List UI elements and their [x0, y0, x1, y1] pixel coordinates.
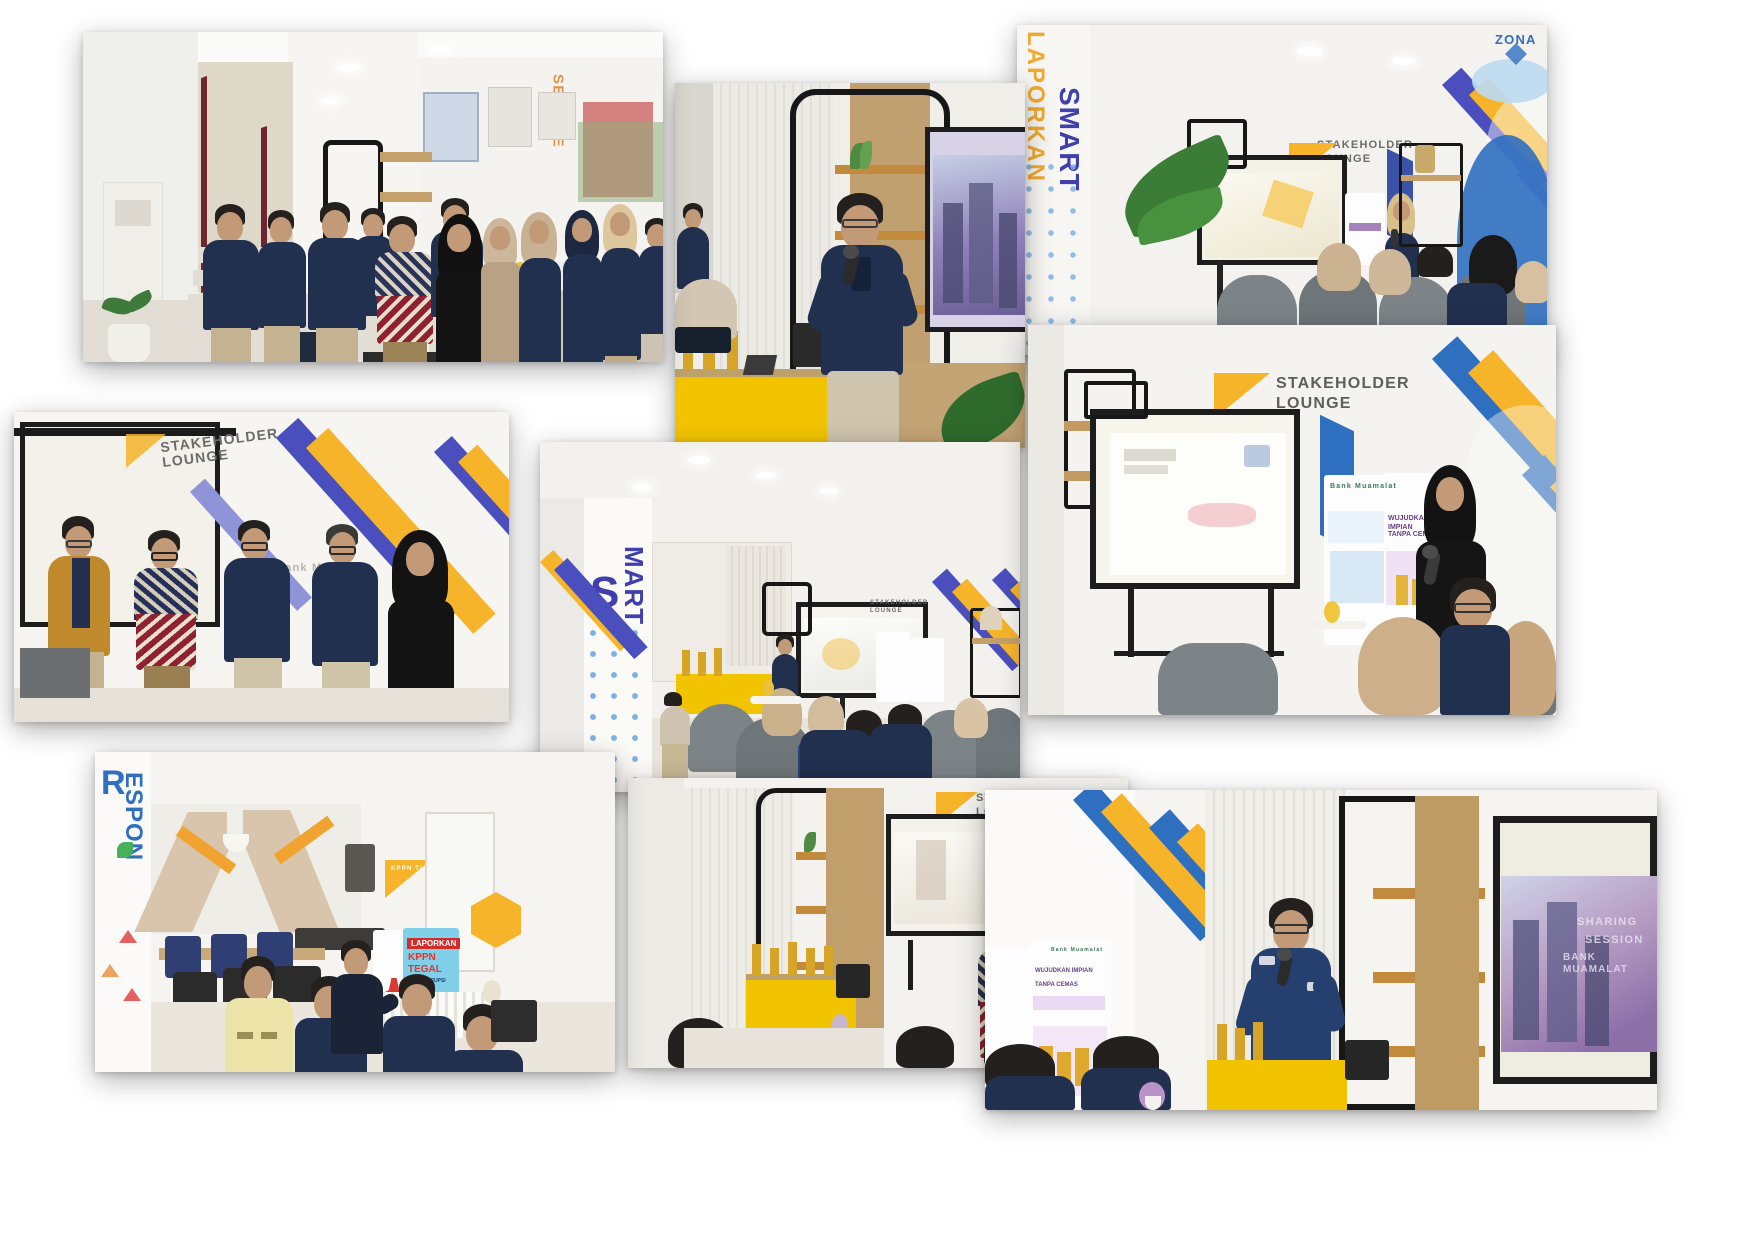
- scene-label-kppn: KPPN: [408, 952, 436, 963]
- photo-group-photo-lobby[interactable]: SERVICE: [83, 32, 663, 362]
- photo-group-of-five-portrait[interactable]: STAKEHOLDER LOUNGE Bank Muamalat: [14, 412, 509, 722]
- photo-blue-shirt-speaker[interactable]: Bank Muamalat WUJUDKAN IMPIAN TANPA CEMA…: [985, 790, 1657, 1110]
- photo-hijab-speaker-audience[interactable]: STAKEHOLDER LOUNGE Bank Mua: [1028, 325, 1556, 715]
- scene-label-smart-mart: MART: [618, 546, 649, 625]
- photo-collage: SERVICE: [0, 0, 1753, 1240]
- photo-presenter-stakeholder-lounge[interactable]: LAPORKAN SMART STAKEHOLDER LOUNGE ZONA: [1017, 25, 1547, 355]
- scene-label-session: SESSION: [1585, 934, 1644, 947]
- scene-label-lounge-5: LOUNGE: [870, 608, 903, 615]
- scene-label-stakeholder-5: STAKEHOLDER: [870, 600, 928, 607]
- scene-label-tanpa-cemas-9: TANPA CEMAS: [1035, 982, 1105, 988]
- scene-label-laporkan: LAPORKAN: [407, 938, 460, 949]
- scene-label-bank-muamalat: Bank Muamalat: [1330, 483, 1397, 491]
- scene-label-sharing: SHARING: [1577, 916, 1638, 929]
- scene-label-stakeholder-6: STAKEHOLDER: [1276, 375, 1410, 393]
- scene-label-wujudkan-9: WUJUDKAN IMPIAN: [1035, 968, 1105, 976]
- photo-audience-room-smart[interactable]: S MART STAKEHOLDER LOUNGE: [540, 442, 1020, 792]
- scene-label-bank-muamalat-9: Bank Muamalat: [1051, 948, 1103, 954]
- photo-responsif-meeting-room[interactable]: R ESPON KPPN TLC: [95, 752, 615, 1072]
- scene-label-bank-muamalat-screen: BANK MUAMALAT: [1563, 952, 1657, 975]
- photo-speaker-with-microphone[interactable]: [675, 83, 1025, 448]
